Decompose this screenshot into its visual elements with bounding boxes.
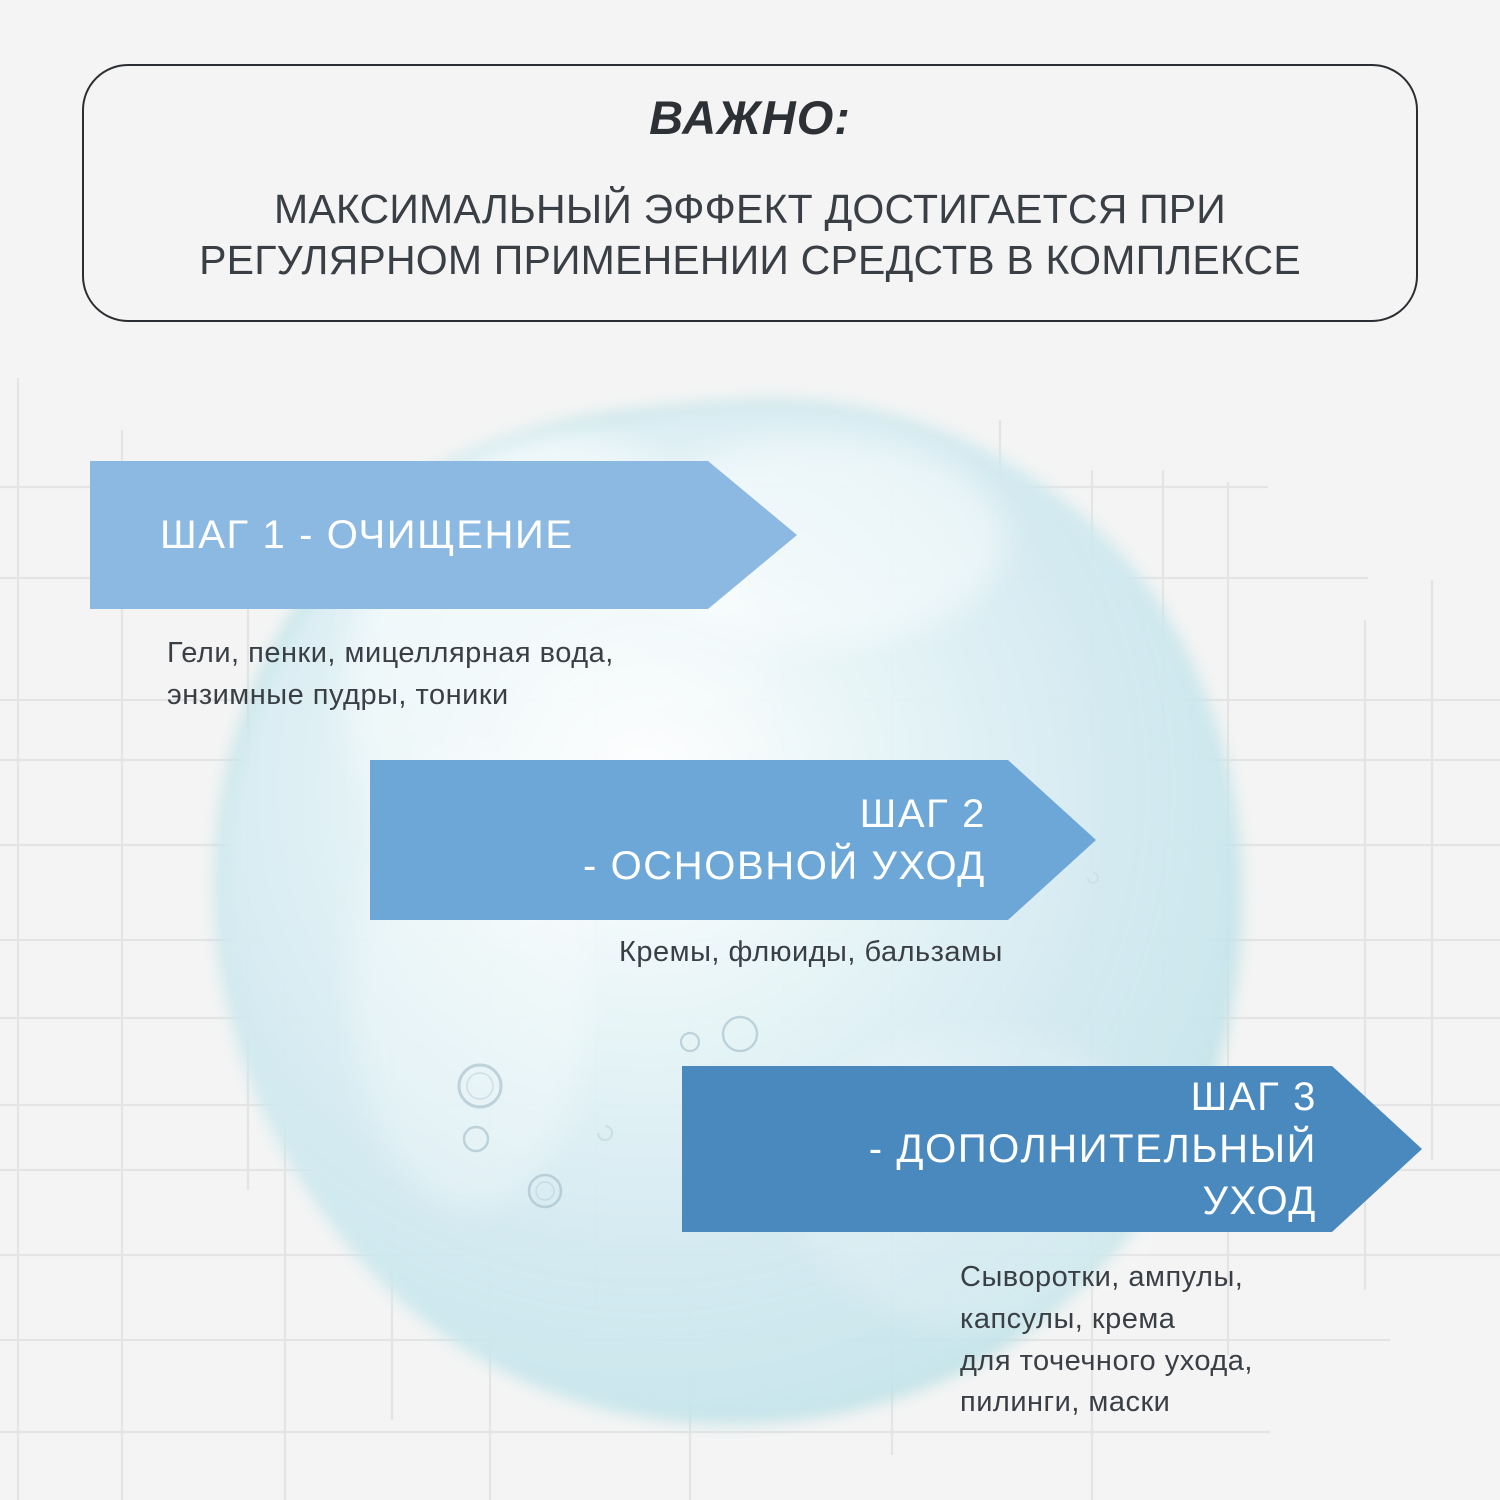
infographic-canvas: ВАЖНО: МАКСИМАЛЬНЫЙ ЭФФЕКТ ДОСТИГАЕТСЯ П… [0, 0, 1500, 1500]
step-2-caption: Кремы, флюиды, бальзамы [619, 932, 1003, 974]
page-title: ВАЖНО: [649, 92, 851, 144]
page-subtitle: МАКСИМАЛЬНЫЙ ЭФФЕКТ ДОСТИГАЕТСЯ ПРИ РЕГУ… [199, 184, 1301, 287]
step-3-label: ШАГ 3 - ДОПОЛНИТЕЛЬНЫЙ УХОД [732, 1071, 1317, 1227]
step-3-arrow[interactable]: ШАГ 3 - ДОПОЛНИТЕЛЬНЫЙ УХОД [682, 1066, 1422, 1232]
step-1-arrow[interactable]: ШАГ 1 - ОЧИЩЕНИЕ [90, 461, 797, 609]
important-callout-box: ВАЖНО: МАКСИМАЛЬНЫЙ ЭФФЕКТ ДОСТИГАЕТСЯ П… [82, 64, 1418, 322]
step-1-label: ШАГ 1 - ОЧИЩЕНИЕ [160, 509, 687, 561]
step-1-caption: Гели, пенки, мицеллярная вода, энзимные … [167, 633, 614, 717]
step-2-arrow[interactable]: ШАГ 2 - ОСНОВНОЙ УХОД [370, 760, 1096, 920]
step-2-label: ШАГ 2 - ОСНОВНОЙ УХОД [430, 788, 986, 892]
step-3-caption: Сыворотки, ампулы, капсулы, крема для то… [960, 1257, 1253, 1424]
